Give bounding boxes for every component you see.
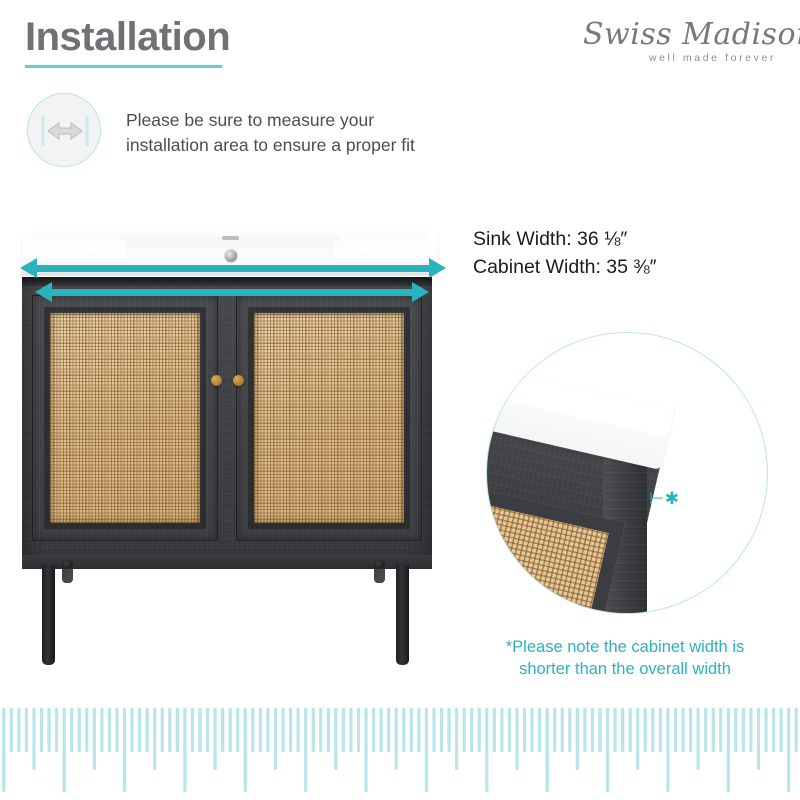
dimension-labels: Sink Width: 36 ⅛″ Cabinet Width: 35 ⅜″: [473, 226, 657, 281]
installation-sheet: Installation Swiss Madison® well made fo…: [0, 0, 800, 800]
cabinet-foot-left: [61, 560, 73, 569]
brand-logo: Swiss Madison® well made forever: [583, 20, 778, 70]
title-underline: [25, 65, 222, 68]
cabinet-base-rail: [22, 555, 432, 569]
cabinet-leg-front-right: [396, 565, 409, 665]
detail-zoom-inset: ⊢✱: [486, 332, 768, 614]
cabinet-body: [22, 277, 432, 567]
double-arrow-measure-icon: [27, 93, 101, 167]
measure-arrow-glyph: [28, 94, 102, 168]
logo-text: Swiss Madison: [583, 17, 800, 52]
cabinet-door-right[interactable]: [236, 295, 422, 541]
cabinet-leg-front-left: [42, 565, 55, 665]
cabinet-width-note: *Please note the cabinet width is shorte…: [470, 636, 780, 681]
decorative-ruler: [0, 690, 800, 800]
faucet-hole: [222, 236, 239, 240]
cabinet-foot-right: [373, 560, 385, 569]
page-title: Installation: [25, 17, 230, 57]
door-bevel-right: [248, 307, 410, 529]
measure-instruction-text: Please be sure to measure your installat…: [126, 108, 415, 159]
door-knob-right[interactable]: [233, 375, 244, 386]
door-knob-left[interactable]: [211, 375, 222, 386]
logo-tagline: well made forever: [649, 52, 776, 64]
door-bevel-left: [44, 307, 206, 529]
sink-drain: [224, 249, 238, 263]
cabinet-door-left[interactable]: [32, 295, 218, 541]
vanity-illustration: [0, 225, 460, 675]
overhang-marker-icon: ⊢✱: [649, 490, 680, 507]
logo-wordmark: Swiss Madison®: [583, 20, 778, 50]
